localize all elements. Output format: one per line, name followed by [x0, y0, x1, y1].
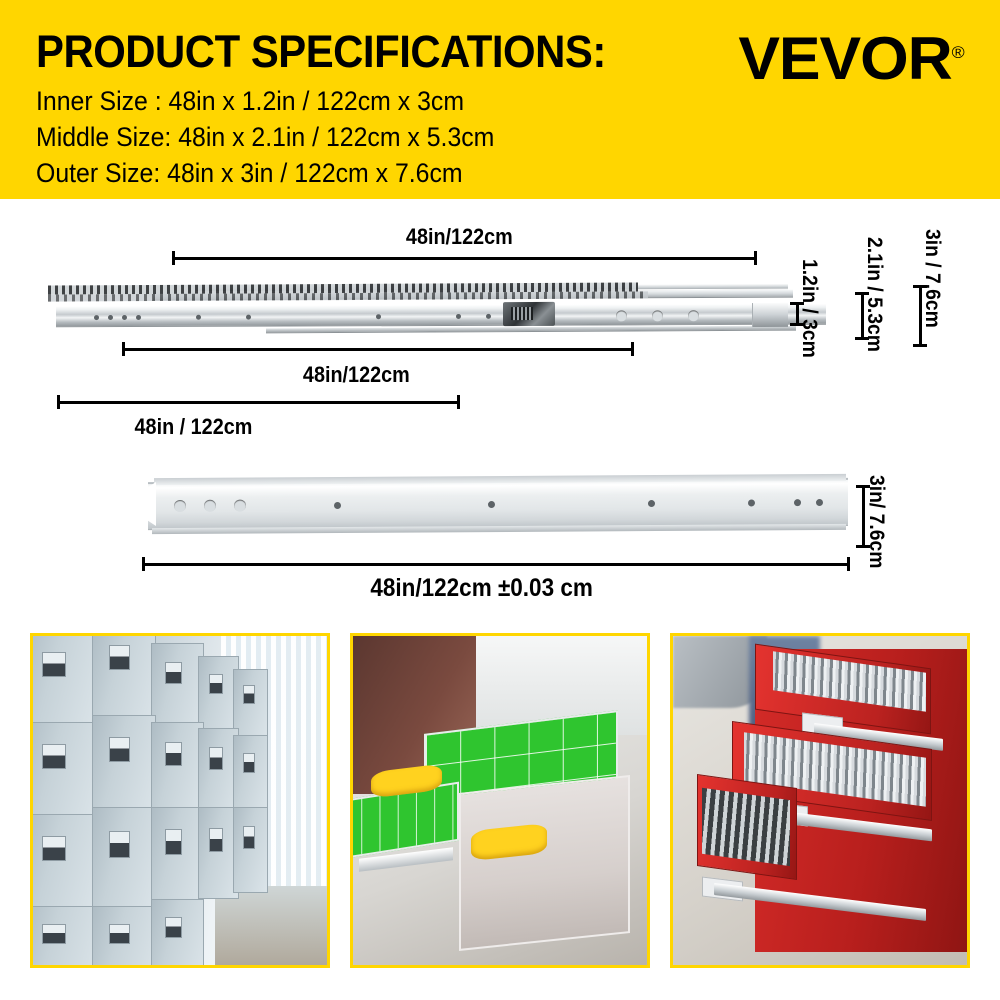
outer-rail [56, 303, 826, 327]
spec-inner-size: Inner Size : 48in x 1.2in / 122cm x 3cm [36, 86, 464, 117]
cabinet [151, 899, 204, 968]
dimension-label-channel-length: 48in/122cm ±0.03 cm [370, 574, 592, 603]
mounting-hole [204, 500, 216, 512]
rivet-dot [456, 314, 461, 319]
cabinet [30, 633, 98, 728]
detent-lock-mechanism [503, 302, 555, 326]
dimension-label-inner-length: 48in/122cm [406, 224, 513, 250]
cabinet [92, 906, 157, 968]
dimension-label-outer-height: 3in / 7.6cm [920, 229, 944, 328]
mounting-hole [174, 500, 186, 512]
photo-gallery [0, 633, 1000, 968]
rivet-dot [136, 315, 141, 320]
cabinet [30, 814, 98, 913]
dimension-line-inner-length [172, 251, 757, 265]
cabinet [92, 715, 157, 814]
cabinet [233, 735, 268, 814]
channel-rail-body [148, 478, 848, 530]
cabinet [151, 643, 204, 729]
page-title: PRODUCT SPECIFICATIONS: [36, 26, 606, 78]
rivet-dot [196, 315, 201, 320]
mounting-hole [652, 310, 663, 321]
channel-end-notch [148, 482, 156, 526]
mounting-hole [616, 310, 627, 321]
rivet-dot [246, 315, 251, 320]
dimension-line-middle-length [122, 342, 634, 356]
rivet-dot [486, 314, 491, 319]
rivet-dot [816, 499, 823, 506]
rivet-dot [748, 499, 755, 506]
rivet-dot [794, 499, 801, 506]
dimension-label-middle-height: 2.1in / 5.3cm [862, 237, 886, 352]
dimension-label-middle-length: 48in/122cm [303, 362, 410, 388]
mounting-hole [688, 310, 699, 321]
rivet-dot [94, 315, 99, 320]
vevor-logo-text: VEVOR [739, 25, 952, 92]
files-in-drawer [702, 788, 790, 866]
cabinet [151, 807, 204, 906]
cabinet [30, 722, 98, 821]
rivet-dot [334, 502, 341, 509]
rail-end-cap [752, 303, 788, 327]
dimension-line-outer-length [57, 395, 460, 409]
rivet-dot [488, 501, 495, 508]
product-diagram: 48in/122cm 48in/122cm 48in / 122cm 1.2in… [0, 199, 1000, 629]
cabinet [233, 807, 268, 893]
spec-middle-size: Middle Size: 48in x 2.1in / 122cm x 5.3c… [36, 122, 494, 153]
rivet-dot [648, 500, 655, 507]
cabinet [30, 906, 98, 968]
slide-assembly-illustration [48, 284, 788, 332]
open-drawer [459, 775, 630, 951]
cabinet [92, 807, 157, 912]
dimension-label-inner-height: 1.2in / 3cm [797, 259, 821, 358]
header-banner: PRODUCT SPECIFICATIONS: Inner Size : 48i… [0, 0, 1000, 199]
rivet-dot [122, 315, 127, 320]
workshop-drawers-photo [350, 633, 650, 968]
registered-trademark-icon: ® [952, 43, 964, 62]
cabinet [151, 722, 204, 814]
filing-cabinets-photo [30, 633, 330, 968]
vevor-logo: VEVOR® [739, 24, 964, 93]
rivet-dot [108, 315, 113, 320]
channel-rail-illustration [148, 474, 848, 534]
red-tool-chest-photo [670, 633, 970, 968]
cabinet [92, 633, 157, 722]
dimension-line-channel-length [142, 557, 850, 571]
mounting-hole [234, 500, 246, 512]
rivet-dot [376, 314, 381, 319]
dimension-label-channel-height: 3in/ 7.6cm [864, 475, 888, 568]
spec-outer-size: Outer Size: 48in x 3in / 122cm x 7.6cm [36, 158, 463, 189]
dimension-label-outer-length: 48in / 122cm [135, 414, 253, 440]
